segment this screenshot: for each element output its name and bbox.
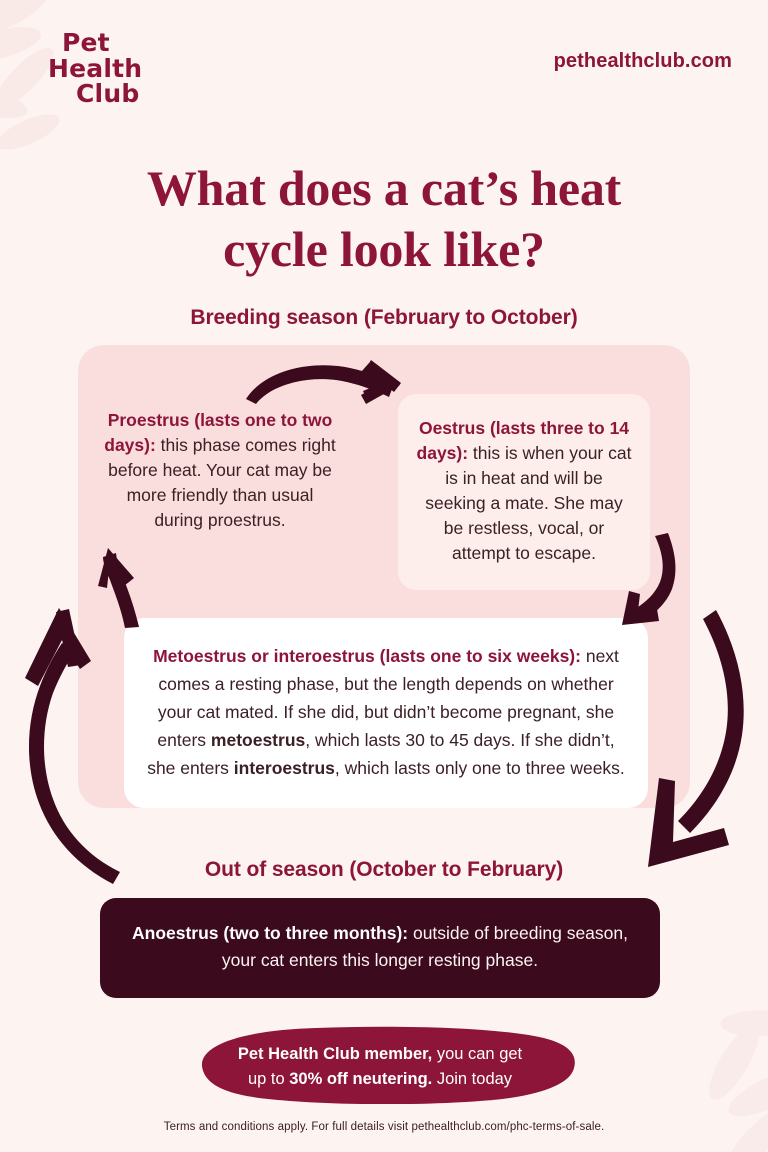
phase-card-oestrus: Oestrus (lasts three to 14 days): this i… xyxy=(398,394,650,590)
cta-text: Pet Health Club member, you can get up t… xyxy=(184,1042,576,1092)
brand-logo[interactable]: Pet Health Club xyxy=(48,30,142,107)
out-of-season-heading: Out of season (October to February) xyxy=(0,858,768,882)
logo-line-health: Health xyxy=(48,56,142,82)
phase-emphasis-metoestrus: metoestrus xyxy=(211,730,305,750)
page-header: Pet Health Club pethealthclub.com xyxy=(0,0,768,120)
logo-line-pet: Pet xyxy=(62,30,142,56)
phase-label-anoestrus: Anoestrus (two to three months): xyxy=(132,923,408,943)
logo-line-club: Club xyxy=(76,81,142,107)
phase-emphasis-interoestrus: interoestrus xyxy=(234,758,335,778)
cta-text-2: up to xyxy=(248,1070,289,1088)
phase-label-metoestrus: Metoestrus or interoestrus (lasts one to… xyxy=(153,646,581,666)
phase-card-proestrus: Proestrus (lasts one to two days): this … xyxy=(96,408,344,533)
site-url-link[interactable]: pethealthclub.com xyxy=(554,50,732,73)
breeding-season-heading: Breeding season (February to October) xyxy=(0,306,768,330)
cta-bold-member: Pet Health Club member, xyxy=(238,1045,432,1063)
cta-text-3: Join today xyxy=(432,1070,512,1088)
phase-card-anoestrus: Anoestrus (two to three months): outside… xyxy=(100,898,660,998)
phase-body-metoestrus-part-3: , which lasts only one to three weeks. xyxy=(335,758,625,778)
page-title-line-2: cycle look like? xyxy=(223,221,545,277)
cta-bold-discount: 30% off neutering. xyxy=(289,1070,432,1088)
terms-and-conditions-text: Terms and conditions apply. For full det… xyxy=(0,1121,768,1133)
cta-text-1: you can get xyxy=(432,1045,522,1063)
phase-card-metoestrus: Metoestrus or interoestrus (lasts one to… xyxy=(124,618,648,808)
cta-membership-badge[interactable]: Pet Health Club member, you can get up t… xyxy=(184,1026,576,1104)
page-title-line-1: What does a cat’s heat xyxy=(147,160,621,216)
page-title: What does a cat’s heat cycle look like? xyxy=(0,158,768,280)
